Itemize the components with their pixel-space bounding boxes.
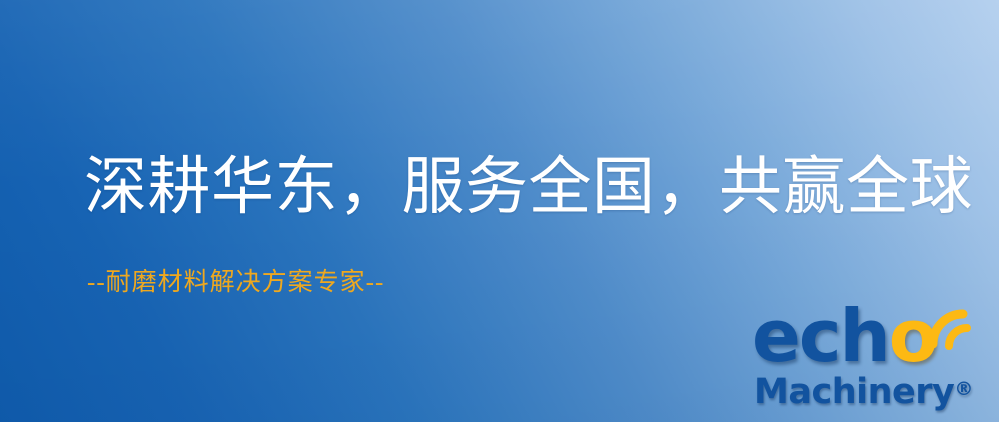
promo-banner: 深耕华东，服务全国，共赢全球 --耐磨材料解决方案专家-- echo Machi… bbox=[0, 0, 999, 422]
banner-headline: 深耕华东，服务全国，共赢全球 bbox=[84, 152, 973, 223]
logo-tagline-text: Machinery bbox=[754, 372, 954, 412]
signal-waves-icon bbox=[925, 294, 987, 356]
banner-subtitle: --耐磨材料解决方案专家-- bbox=[87, 268, 384, 298]
logo-wordmark-ech: ech bbox=[752, 294, 889, 378]
logo-tagline: Machinery® bbox=[754, 372, 973, 410]
echo-machinery-logo: echo Machinery® bbox=[752, 300, 992, 418]
registered-trademark-icon: ® bbox=[954, 378, 973, 400]
logo-wordmark: echo bbox=[752, 300, 936, 372]
